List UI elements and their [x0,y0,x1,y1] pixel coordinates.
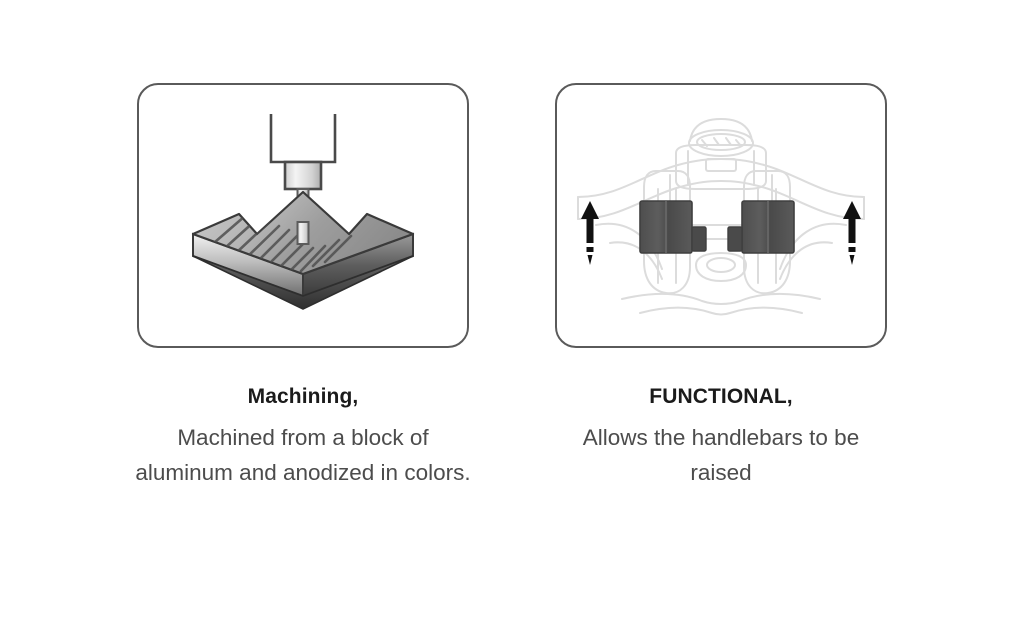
arrow-up-right-icon [843,201,861,265]
feature-machining: Machining, Machined from a block of alum… [135,83,471,490]
spindle-bracket-icon [271,114,335,162]
cnc-milling-icon [153,96,453,336]
feature-title-machining: Machining, [248,384,359,409]
feature-panel: Machining, Machined from a block of alum… [0,0,1024,626]
feature-description-machining: Machined from a block of aluminum and an… [133,421,473,490]
icon-card-functional [555,83,887,348]
feature-row: Machining, Machined from a block of alum… [0,0,1024,490]
icon-card-machining [137,83,469,348]
riser-clamp-left [692,227,706,251]
feature-functional: FUNCTIONAL, Allows the handlebars to be … [553,83,889,490]
riser-blocks [640,201,794,253]
handlebar-riser-icon [566,93,876,338]
riser-clamp-right [728,227,742,251]
feature-title-functional: FUNCTIONAL, [649,384,792,409]
cutting-bit-tip-icon [298,222,309,244]
feature-description-functional: Allows the handlebars to be raised [551,421,891,490]
motorcycle-lineart [578,119,864,315]
collet-icon [285,162,321,189]
arrow-up-left-icon [581,201,599,265]
